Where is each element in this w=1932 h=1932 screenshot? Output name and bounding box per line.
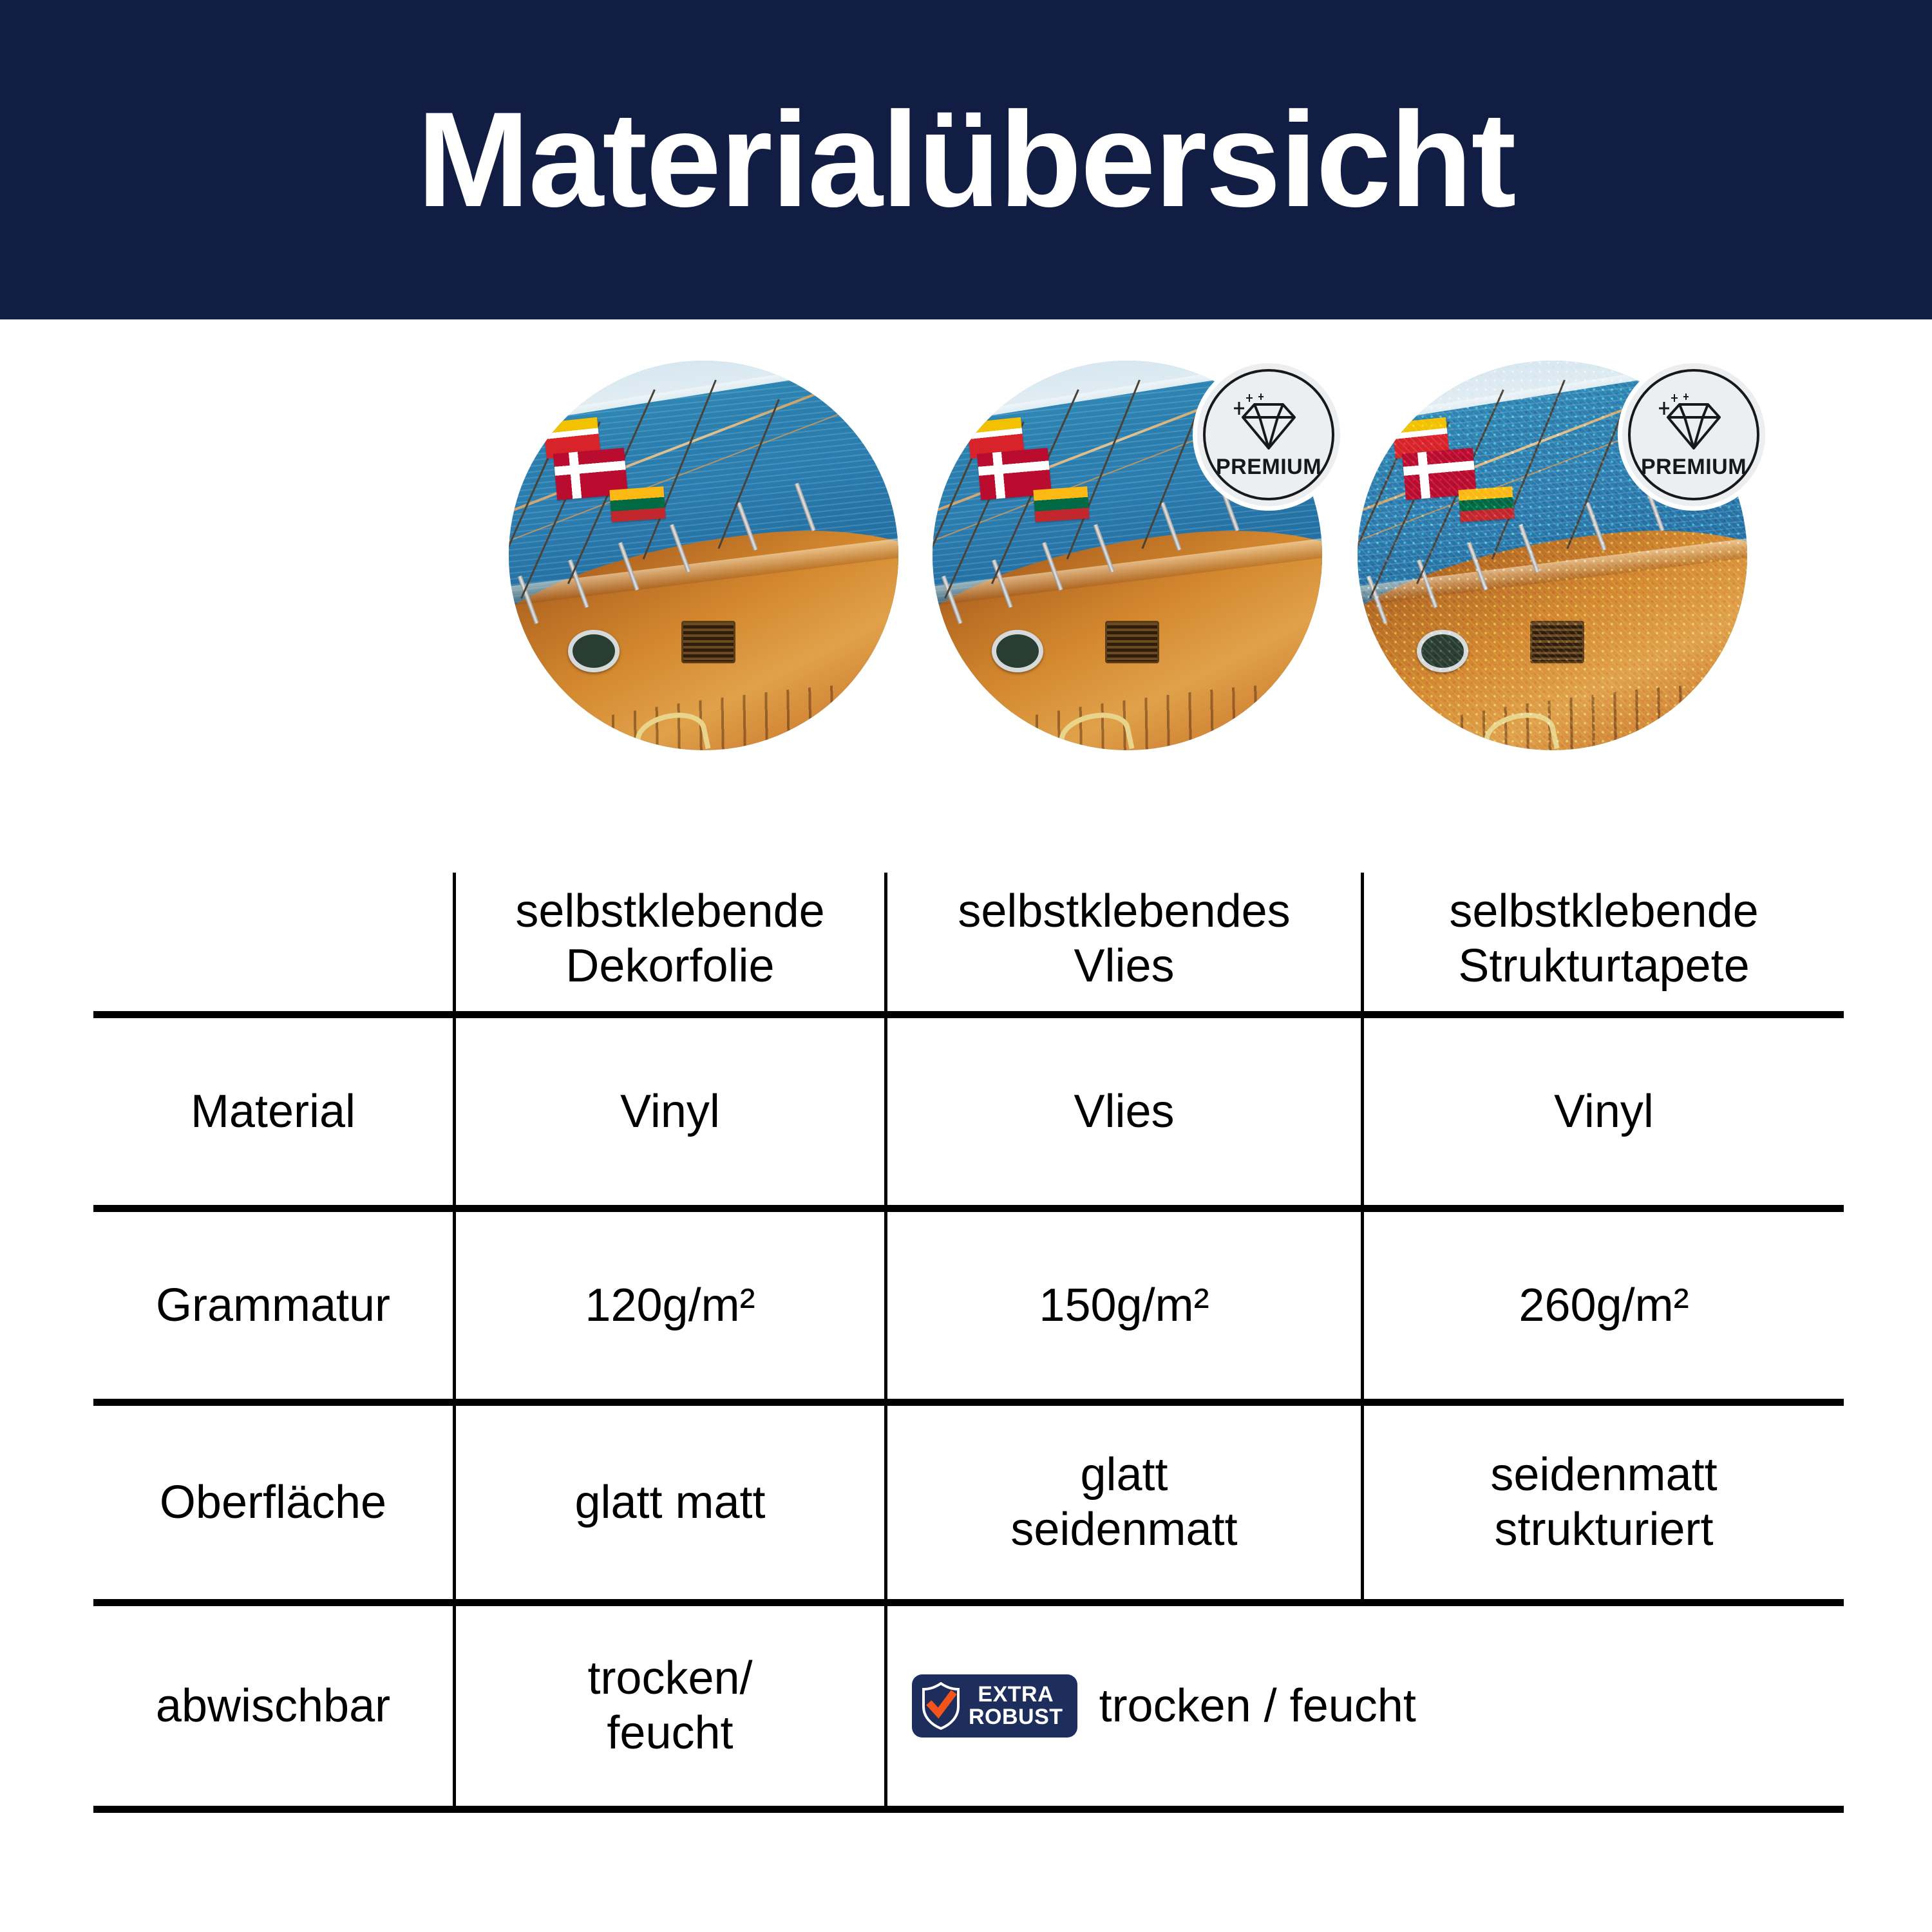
- robust-line-2: ROBUST: [969, 1706, 1063, 1728]
- cell-material-dekorfolie: Vinyl: [453, 1018, 884, 1205]
- premium-badge: PREMIUM: [1197, 363, 1340, 506]
- diamond-icon: [1658, 392, 1730, 453]
- lithuanian-flag: [609, 486, 665, 522]
- header-line-2: Vlies: [958, 939, 1290, 994]
- cell-material-vlies: Vlies: [884, 1018, 1361, 1205]
- page-title: Materialübersicht: [417, 92, 1515, 227]
- value-line-1: glatt: [1010, 1448, 1237, 1502]
- value-line-1: trocken/: [587, 1651, 752, 1706]
- premium-badge-inner: PREMIUM: [1203, 369, 1334, 500]
- header-line-2: Dekorfolie: [515, 939, 824, 994]
- table-header-corner: [93, 873, 453, 1011]
- table-header-strukturtapete: selbstklebende Strukturtapete: [1361, 873, 1844, 1011]
- porthole: [568, 630, 620, 672]
- shield-check-svg: [921, 1682, 961, 1730]
- cell-grammatur-dekorfolie: 120g/m²: [453, 1212, 884, 1399]
- cell-abwischbar-merged: EXTRA ROBUST trocken / feucht: [884, 1606, 1844, 1806]
- product-image-vlies: PREMIUM: [933, 361, 1322, 750]
- row-label-material: Material: [93, 1018, 453, 1205]
- premium-badge-label: PREMIUM: [1216, 456, 1321, 478]
- table-row-oberflaeche: Oberfläche glatt matt glatt seidenmatt s…: [93, 1406, 1844, 1606]
- cell-grammatur-vlies: 150g/m²: [884, 1212, 1361, 1399]
- page-header-banner: Materialübersicht: [0, 0, 1932, 319]
- table-row-abwischbar: abwischbar trocken/ feucht EXTR: [93, 1606, 1844, 1813]
- premium-badge-inner: PREMIUM: [1628, 369, 1759, 500]
- value-line-2: strukturiert: [1490, 1502, 1717, 1557]
- deck-vent: [681, 621, 735, 663]
- product-image-dekorfolie: [509, 361, 898, 750]
- header-line-2: Strukturtapete: [1449, 939, 1758, 994]
- shield-check-icon: [921, 1682, 961, 1730]
- yacht-deck-photo: [509, 361, 898, 750]
- cell-oberflaeche-strukturtapete: seidenmatt strukturiert: [1361, 1406, 1844, 1599]
- row-label-abwischbar: abwischbar: [93, 1606, 453, 1806]
- table-header-dekorfolie: selbstklebende Dekorfolie: [453, 873, 884, 1011]
- lithuanian-flag: [1033, 486, 1089, 522]
- product-image-strukturtapete: PREMIUM: [1358, 361, 1747, 750]
- extra-robust-badge: EXTRA ROBUST: [912, 1674, 1077, 1738]
- table-row-grammatur: Grammatur 120g/m² 150g/m² 260g/m²: [93, 1212, 1844, 1406]
- porthole: [992, 630, 1043, 672]
- product-image-row: PREMIUM: [0, 361, 1932, 753]
- row-label-oberflaeche: Oberfläche: [93, 1406, 453, 1599]
- table-header-vlies: selbstklebendes Vlies: [884, 873, 1361, 1011]
- header-line-1: selbstklebende: [1449, 884, 1758, 939]
- header-line-1: selbstklebendes: [958, 884, 1290, 939]
- value-line-1: seidenmatt: [1490, 1448, 1717, 1502]
- cell-abwischbar-merged-text: trocken / feucht: [1099, 1679, 1416, 1734]
- value-line-2: seidenmatt: [1010, 1502, 1237, 1557]
- premium-badge: PREMIUM: [1622, 363, 1765, 506]
- material-overview-page: Materialübersicht: [0, 0, 1932, 1932]
- header-line-1: selbstklebende: [515, 884, 824, 939]
- value-line-1: glatt matt: [574, 1475, 765, 1530]
- robust-line-1: EXTRA: [969, 1683, 1063, 1706]
- cell-material-strukturtapete: Vinyl: [1361, 1018, 1844, 1205]
- value-line-2: feucht: [587, 1706, 752, 1761]
- table-row-material: Material Vinyl Vlies Vinyl: [93, 1018, 1844, 1212]
- material-comparison-table: selbstklebende Dekorfolie selbstklebende…: [93, 873, 1844, 1813]
- extra-robust-text: EXTRA ROBUST: [969, 1683, 1063, 1728]
- deck-vent: [1105, 621, 1159, 663]
- diamond-icon: [1233, 392, 1305, 453]
- cell-grammatur-strukturtapete: 260g/m²: [1361, 1212, 1844, 1399]
- cell-abwischbar-dekorfolie: trocken/ feucht: [453, 1606, 884, 1806]
- cell-oberflaeche-vlies: glatt seidenmatt: [884, 1406, 1361, 1599]
- cell-oberflaeche-dekorfolie: glatt matt: [453, 1406, 884, 1599]
- table-header-row: selbstklebende Dekorfolie selbstklebende…: [93, 873, 1844, 1018]
- premium-badge-label: PREMIUM: [1641, 456, 1747, 478]
- row-label-grammatur: Grammatur: [93, 1212, 453, 1399]
